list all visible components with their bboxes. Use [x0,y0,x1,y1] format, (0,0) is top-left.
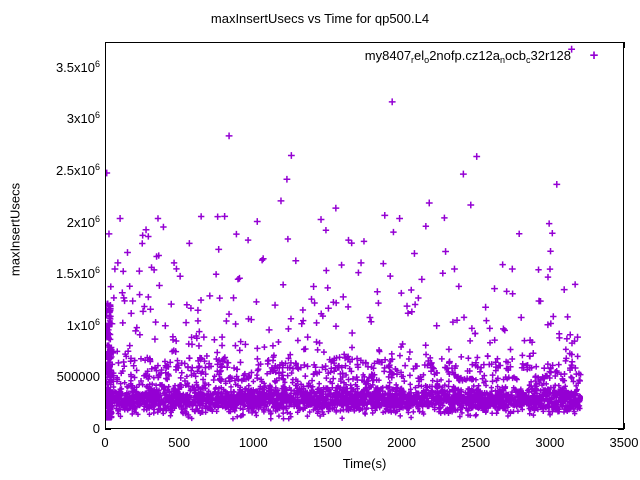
y-axis-title: maxInsertUsecs [8,160,23,300]
scatter-points [106,43,625,430]
x-tick-label: 3500 [584,436,640,449]
x-tick-label: 3000 [510,436,590,449]
y-tick-label: 3x106 [8,112,100,125]
legend-key-marker: + [571,48,617,63]
x-tick-label: 0 [65,436,145,449]
x-tick-label: 500 [139,436,219,449]
legend: my8407relo2nofp.cz12anocbc32r128 + [365,46,617,65]
y-tick-label: 1x106 [8,319,100,332]
plot-area: my8407relo2nofp.cz12anocbc32r128 + [105,42,624,429]
x-tick-label: 2000 [362,436,442,449]
data-points [106,46,583,422]
x-axis-title: Time(s) [105,456,624,471]
x-tick-label: 2500 [436,436,516,449]
y-tick-label: 500000 [8,370,100,383]
y-tick-label: 3.5x106 [8,61,100,74]
y-tick-label: 0 [8,422,100,435]
x-tick-label: 1500 [287,436,367,449]
chart-root: maxInsertUsecs vs Time for qp500.L4 0500… [0,0,640,480]
x-tick-label: 1000 [213,436,293,449]
legend-series-label: my8407relo2nofp.cz12anocbc32r128 [365,48,571,63]
